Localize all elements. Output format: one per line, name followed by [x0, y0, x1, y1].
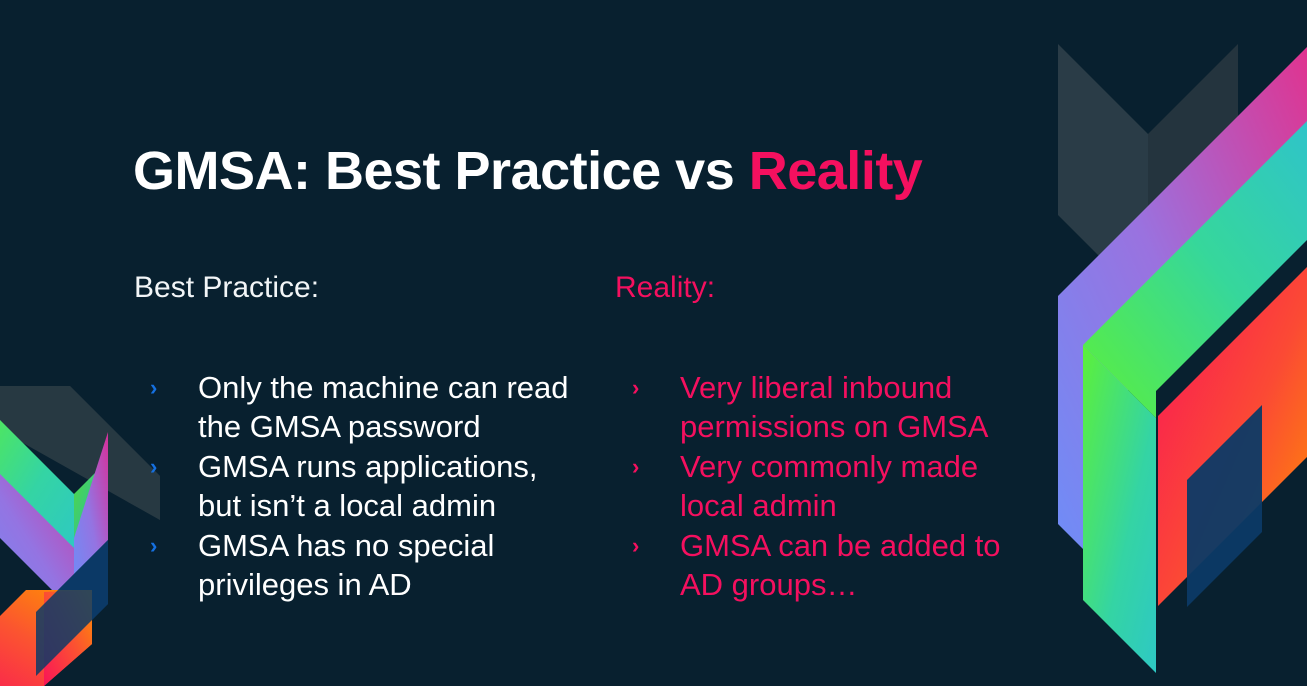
list-item-label: Only the machine can read the GMSA passw…	[198, 368, 580, 446]
chevron-right-icon: ›	[632, 368, 680, 407]
slide-content: GMSA: Best Practice vs Reality Best Prac…	[0, 0, 1307, 686]
list-item-label: GMSA runs applications, but isn’t a loca…	[198, 447, 580, 525]
bullet-list-reality: › Very liberal inbound permissions on GM…	[632, 368, 1032, 605]
chevron-right-icon: ›	[632, 447, 680, 486]
chevron-right-icon: ›	[632, 526, 680, 565]
page-title-main: GMSA: Best Practice vs	[133, 141, 749, 201]
page-title-accent: Reality	[749, 141, 923, 201]
list-item: › GMSA can be added to AD groups…	[632, 526, 1032, 604]
list-item-label: GMSA can be added to AD groups…	[680, 526, 1032, 604]
bullet-list-best-practice: › Only the machine can read the GMSA pas…	[150, 368, 580, 605]
chevron-right-icon: ›	[150, 447, 198, 486]
chevron-right-icon: ›	[150, 368, 198, 407]
list-item-label: Very liberal inbound permissions on GMSA	[680, 368, 1032, 446]
list-item: › Only the machine can read the GMSA pas…	[150, 368, 580, 446]
list-item: › Very commonly made local admin	[632, 447, 1032, 525]
list-item: › Very liberal inbound permissions on GM…	[632, 368, 1032, 446]
chevron-right-icon: ›	[150, 526, 198, 565]
column-heading-reality: Reality:	[615, 271, 715, 305]
list-item: › GMSA runs applications, but isn’t a lo…	[150, 447, 580, 525]
list-item-label: GMSA has no special privileges in AD	[198, 526, 580, 604]
slide: GMSA: Best Practice vs Reality Best Prac…	[0, 0, 1307, 686]
page-title: GMSA: Best Practice vs Reality	[133, 143, 922, 200]
list-item: › GMSA has no special privileges in AD	[150, 526, 580, 604]
column-heading-best-practice: Best Practice:	[134, 271, 319, 305]
list-item-label: Very commonly made local admin	[680, 447, 1032, 525]
